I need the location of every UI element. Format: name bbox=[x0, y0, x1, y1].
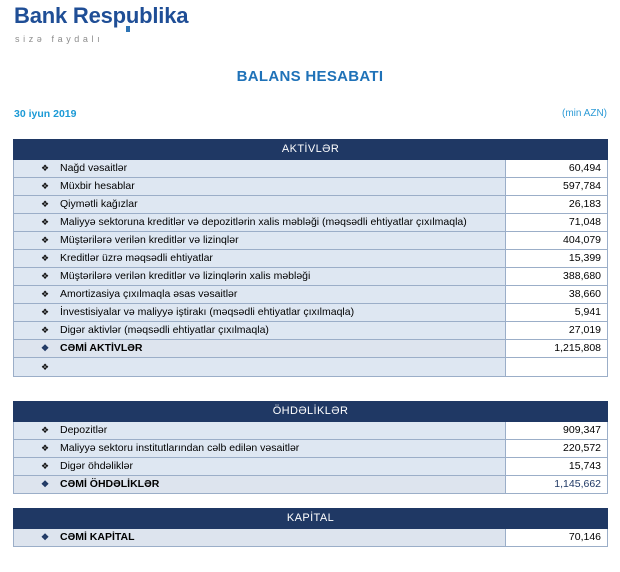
row-value-cell: 1,145,662 bbox=[506, 476, 608, 494]
report-meta: 30 iyun 2019 (min AZN) bbox=[14, 108, 607, 122]
row-value-cell: 220,572 bbox=[506, 440, 608, 458]
section-header-assets: AKTİVLƏR bbox=[14, 140, 608, 160]
row-label-text: CƏMİ AKTİVLƏR bbox=[54, 342, 501, 355]
row-label-cell: ❖Digər aktivlər (məqsədli ehtiyatlar çıx… bbox=[14, 322, 506, 340]
diamond-bullet-icon: ❖ bbox=[36, 424, 54, 437]
table-row: ❖Maliyyə sektoru institutlarından cəlb e… bbox=[14, 440, 608, 458]
financial-table-assets: AKTİVLƏR❖Nağd vəsaitlər60,494❖Müxbir hes… bbox=[13, 139, 608, 377]
page-title: BALANS HESABATI bbox=[0, 68, 620, 85]
row-value-cell: 1,215,808 bbox=[506, 340, 608, 358]
row-label-cell: ❖Nağd vəsaitlər bbox=[14, 160, 506, 178]
row-label-text: Müxbir hesablar bbox=[54, 180, 501, 193]
table-row: ❖Müştərilərə verilən kreditlər və lizinq… bbox=[14, 232, 608, 250]
row-label-cell: ❖Depozitlər bbox=[14, 422, 506, 440]
row-label-text: CƏMİ ÖHDƏLİKLƏR bbox=[54, 478, 501, 491]
row-label-text: Digər öhdəliklər bbox=[54, 460, 501, 473]
row-label-cell: ❖Müştərilərə verilən kreditlər və lizinq… bbox=[14, 232, 506, 250]
row-label-cell: ❖CƏMİ KAPİTAL bbox=[14, 529, 506, 547]
row-label-text: Maliyyə sektoruna kreditlər və depozitlə… bbox=[54, 216, 501, 229]
diamond-bullet-icon: ❖ bbox=[36, 234, 54, 247]
row-label-cell: ❖İnvestisiyalar və maliyyə iştirakı (məq… bbox=[14, 304, 506, 322]
row-label-cell: ❖ bbox=[14, 358, 506, 377]
diamond-bullet-icon: ❖ bbox=[36, 288, 54, 301]
diamond-bullet-icon: ❖ bbox=[36, 252, 54, 265]
row-value-cell bbox=[506, 358, 608, 377]
diamond-bullet-icon: ❖ bbox=[36, 162, 54, 175]
row-value-cell: 26,183 bbox=[506, 196, 608, 214]
row-label-cell: ❖CƏMİ ÖHDƏLİKLƏR bbox=[14, 476, 506, 494]
diamond-bullet-icon: ❖ bbox=[36, 342, 54, 355]
table-row: ❖Maliyyə sektoruna kreditlər və depozitl… bbox=[14, 214, 608, 232]
row-label-cell: ❖Kreditlər üzrə məqsədli ehtiyatlar bbox=[14, 250, 506, 268]
diamond-bullet-icon: ❖ bbox=[36, 180, 54, 193]
row-label-cell: ❖Qiymətli kağızlar bbox=[14, 196, 506, 214]
row-value-cell: 388,680 bbox=[506, 268, 608, 286]
row-value-cell: 15,743 bbox=[506, 458, 608, 476]
table-row: ❖Kreditlər üzrə məqsədli ehtiyatlar15,39… bbox=[14, 250, 608, 268]
row-label-text: Maliyyə sektoru institutlarından cəlb ed… bbox=[54, 442, 501, 455]
diamond-bullet-icon: ❖ bbox=[36, 442, 54, 455]
table-row: ❖CƏMİ KAPİTAL70,146 bbox=[14, 529, 608, 547]
table-row: ❖İnvestisiyalar və maliyyə iştirakı (məq… bbox=[14, 304, 608, 322]
row-label-text: Digər aktivlər (məqsədli ehtiyatlar çıxı… bbox=[54, 324, 501, 337]
row-label-cell: ❖CƏMİ AKTİVLƏR bbox=[14, 340, 506, 358]
diamond-bullet-icon: ❖ bbox=[36, 478, 54, 491]
equity-section: KAPİTAL❖CƏMİ KAPİTAL70,146 bbox=[13, 508, 607, 547]
diamond-bullet-icon: ❖ bbox=[36, 198, 54, 211]
row-label-text: CƏMİ KAPİTAL bbox=[54, 531, 501, 544]
brand-accent-square-icon bbox=[126, 26, 130, 32]
row-label-text: Kreditlər üzrə məqsədli ehtiyatlar bbox=[54, 252, 501, 265]
table-row: ❖Digər aktivlər (məqsədli ehtiyatlar çıx… bbox=[14, 322, 608, 340]
report-units: (min AZN) bbox=[562, 108, 607, 119]
row-label-cell: ❖Amortizasiya çıxılmaqla əsas vəsaitlər bbox=[14, 286, 506, 304]
table-row: ❖Müxbir hesablar597,784 bbox=[14, 178, 608, 196]
row-label-cell: ❖Digər öhdəliklər bbox=[14, 458, 506, 476]
row-value-cell: 597,784 bbox=[506, 178, 608, 196]
table-row: ❖Amortizasiya çıxılmaqla əsas vəsaitlər3… bbox=[14, 286, 608, 304]
row-label-text: Müştərilərə verilən kreditlər və lizinql… bbox=[54, 234, 501, 247]
row-value-cell: 5,941 bbox=[506, 304, 608, 322]
row-label-cell: ❖Müştərilərə verilən kreditlər və lizinq… bbox=[14, 268, 506, 286]
row-value-cell: 60,494 bbox=[506, 160, 608, 178]
diamond-bullet-icon: ❖ bbox=[36, 361, 54, 374]
row-value-cell: 27,019 bbox=[506, 322, 608, 340]
financial-table-liabilities: ÖHDƏLİKLƏR❖Depozitlər909,347❖Maliyyə sek… bbox=[13, 401, 608, 494]
diamond-bullet-icon: ❖ bbox=[36, 216, 54, 229]
table-row: ❖Qiymətli kağızlar26,183 bbox=[14, 196, 608, 214]
row-label-text: Depozitlər bbox=[54, 424, 501, 437]
section-header-label: KAPİTAL bbox=[14, 509, 608, 529]
section-header-label: ÖHDƏLİKLƏR bbox=[14, 402, 608, 422]
row-label-text: Qiymətli kağızlar bbox=[54, 198, 501, 211]
diamond-bullet-icon: ❖ bbox=[36, 306, 54, 319]
section-header-equity: KAPİTAL bbox=[14, 509, 608, 529]
row-value-cell: 71,048 bbox=[506, 214, 608, 232]
row-value-cell: 38,660 bbox=[506, 286, 608, 304]
table-row: ❖CƏMİ AKTİVLƏR1,215,808 bbox=[14, 340, 608, 358]
table-row: ❖CƏMİ ÖHDƏLİKLƏR1,145,662 bbox=[14, 476, 608, 494]
row-label-text: Müştərilərə verilən kreditlər və lizinql… bbox=[54, 270, 501, 283]
table-row: ❖Müştərilərə verilən kreditlər və lizinq… bbox=[14, 268, 608, 286]
table-row: ❖Digər öhdəliklər15,743 bbox=[14, 458, 608, 476]
diamond-bullet-icon: ❖ bbox=[36, 270, 54, 283]
table-row: ❖Nağd vəsaitlər60,494 bbox=[14, 160, 608, 178]
row-value-cell: 70,146 bbox=[506, 529, 608, 547]
brand-tagline-wrap: sizə faydalı bbox=[14, 29, 188, 43]
brand-name: Bank Respublika bbox=[14, 4, 188, 27]
row-value-cell: 909,347 bbox=[506, 422, 608, 440]
report-date: 30 iyun 2019 bbox=[14, 108, 76, 120]
row-label-text bbox=[54, 361, 501, 374]
financial-table-equity: KAPİTAL❖CƏMİ KAPİTAL70,146 bbox=[13, 508, 608, 547]
row-label-text: İnvestisiyalar və maliyyə iştirakı (məqs… bbox=[54, 306, 501, 319]
section-header-label: AKTİVLƏR bbox=[14, 140, 608, 160]
table-row-spacer: ❖ bbox=[14, 358, 608, 377]
row-label-text: Nağd vəsaitlər bbox=[54, 162, 501, 175]
diamond-bullet-icon: ❖ bbox=[36, 460, 54, 473]
row-label-cell: ❖Maliyyə sektoruna kreditlər və depozitl… bbox=[14, 214, 506, 232]
diamond-bullet-icon: ❖ bbox=[36, 531, 54, 544]
row-value-cell: 15,399 bbox=[506, 250, 608, 268]
row-label-cell: ❖Maliyyə sektoru institutlarından cəlb e… bbox=[14, 440, 506, 458]
assets-section: AKTİVLƏR❖Nağd vəsaitlər60,494❖Müxbir hes… bbox=[13, 139, 607, 377]
table-row: ❖Depozitlər909,347 bbox=[14, 422, 608, 440]
brand-logo: Bank Respublika sizə faydalı bbox=[14, 4, 188, 43]
diamond-bullet-icon: ❖ bbox=[36, 324, 54, 337]
section-header-liabilities: ÖHDƏLİKLƏR bbox=[14, 402, 608, 422]
row-value-cell: 404,079 bbox=[506, 232, 608, 250]
row-label-cell: ❖Müxbir hesablar bbox=[14, 178, 506, 196]
row-label-text: Amortizasiya çıxılmaqla əsas vəsaitlər bbox=[54, 288, 501, 301]
liabilities-section: ÖHDƏLİKLƏR❖Depozitlər909,347❖Maliyyə sek… bbox=[13, 401, 607, 494]
brand-tagline: sizə faydalı bbox=[15, 34, 103, 44]
